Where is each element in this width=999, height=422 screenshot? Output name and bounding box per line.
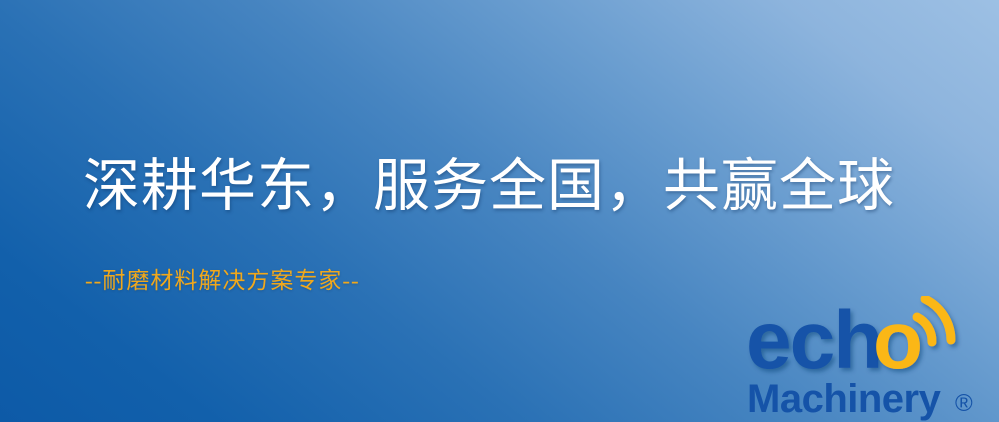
banner-subtitle: --耐磨材料解决方案专家-- — [85, 266, 360, 296]
echo-machinery-logo[interactable]: ech o Machinery ® — [746, 296, 999, 422]
logo-tagline: Machinery — [747, 377, 942, 421]
logo-wordmark-o: o — [873, 296, 923, 386]
hero-banner: 深耕华东，服务全国，共赢全球 --耐磨材料解决方案专家-- ech o Mach… — [0, 0, 999, 422]
logo-trademark-symbol: ® — [955, 390, 973, 417]
logo-wordmark-ech: ech — [746, 296, 881, 386]
banner-headline: 深耕华东，服务全国，共赢全球 — [83, 152, 895, 222]
